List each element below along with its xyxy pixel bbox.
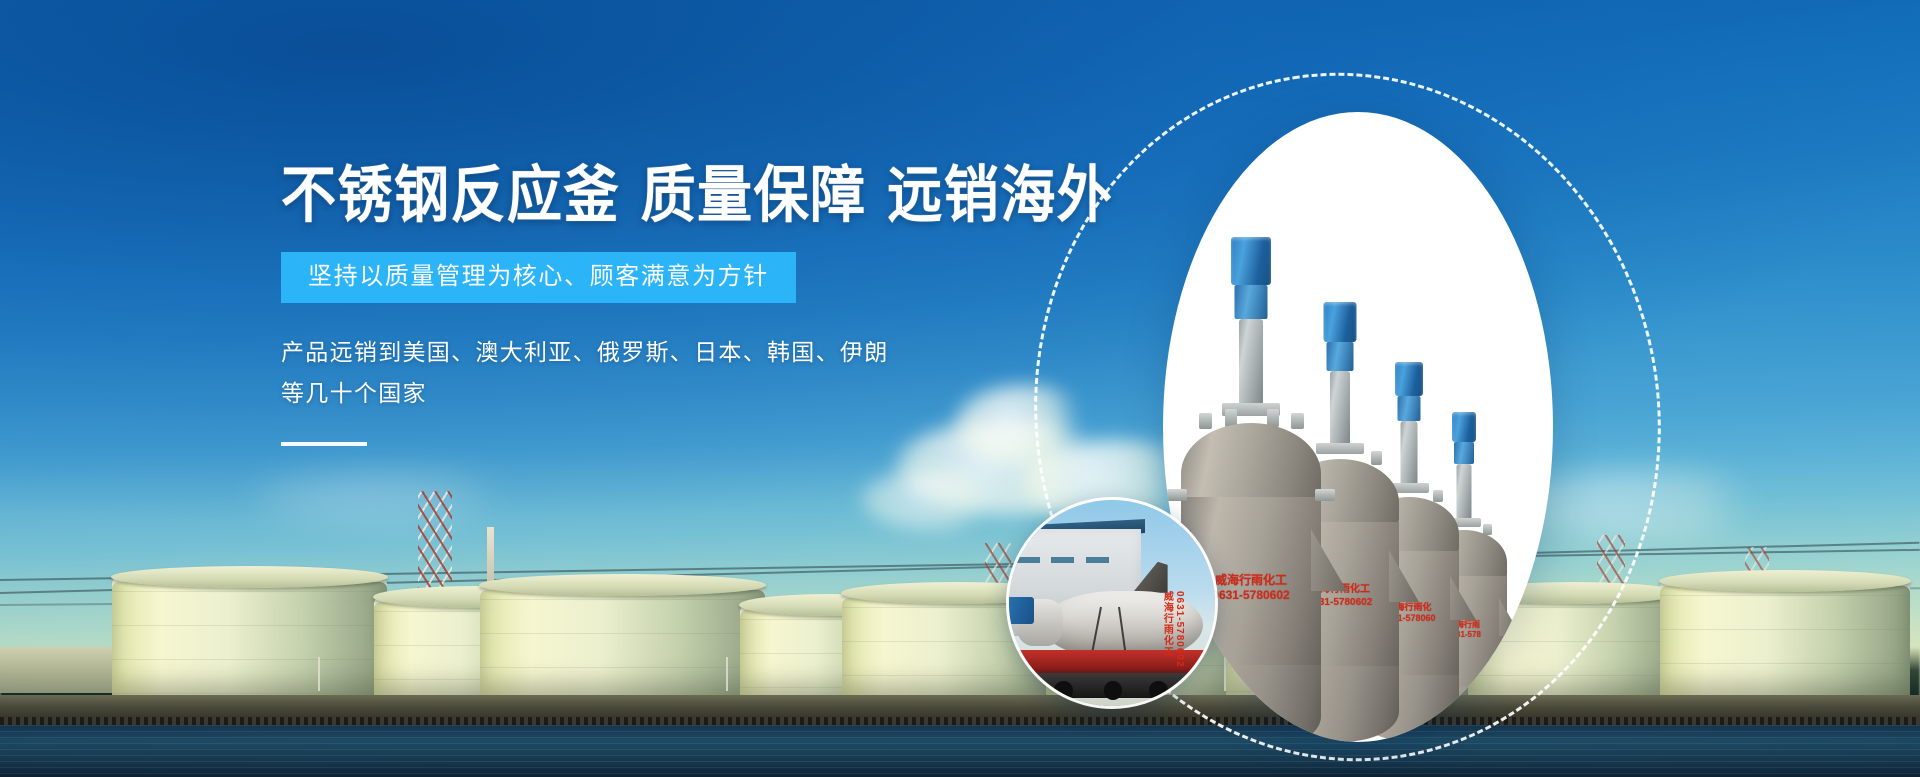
truck-wheel — [1054, 681, 1073, 700]
slogan-text: 坚持以质量管理为核心、顾客满意为方针 — [308, 263, 769, 290]
brand-phone: 0631-5780602 — [1212, 588, 1289, 603]
divider-rule — [281, 442, 367, 446]
agitator-motor-icon — [1324, 302, 1357, 342]
cloud — [860, 470, 1010, 530]
water-surface — [0, 725, 1920, 777]
nozzle — [1291, 413, 1304, 429]
hero-copy: 不锈钢反应釜 质量保障 远销海外 坚持以质量管理为核心、顾客满意为方针 产品远销… — [281, 162, 1001, 446]
agitator-shaft — [1401, 421, 1418, 485]
storage-tank — [112, 577, 387, 697]
description-line-2: 等几十个国家 — [281, 373, 1001, 413]
agitator-shaft — [1330, 371, 1350, 445]
agitator-shaft — [1239, 319, 1263, 405]
page-title: 不锈钢反应釜 质量保障 远销海外 — [281, 162, 1001, 227]
cloud — [250, 470, 550, 525]
nozzle — [1199, 413, 1212, 429]
window — [1017, 557, 1040, 563]
slogan-band: 坚持以质量管理为核心、顾客满意为方针 — [281, 252, 796, 303]
street-lamp — [318, 657, 320, 691]
window — [1051, 557, 1074, 563]
gearbox-icon — [1327, 342, 1354, 371]
side-nozzle — [1315, 489, 1335, 501]
product-photo-inset: 威海行雨化工 0631-5780602 — [1006, 497, 1218, 709]
description-text: 产品远销到美国、澳大利亚、俄罗斯、日本、韩国、伊朗 等几十个国家 — [281, 332, 1001, 413]
top-flange — [1316, 443, 1364, 454]
product-showcase-oval: 威海行雨 0631-578 威海行雨化 0631-578060 — [1163, 112, 1553, 742]
storage-tank — [480, 585, 765, 697]
description-line-1: 产品远销到美国、澳大利亚、俄罗斯、日本、韩国、伊朗 — [281, 332, 1001, 372]
agitator-motor-icon — [1395, 362, 1423, 396]
hero-banner: 不锈钢反应釜 质量保障 远销海外 坚持以质量管理为核心、顾客满意为方针 产品远销… — [0, 0, 1920, 777]
brand-name: 威海行雨化工 — [1212, 573, 1289, 588]
gearbox-icon — [1398, 396, 1421, 421]
inset-brand-name: 威海行雨化工 — [1159, 591, 1174, 657]
storage-tank — [1660, 581, 1910, 697]
street-lamp — [726, 657, 728, 691]
tank-farm-scene — [0, 545, 1920, 777]
nozzle — [1371, 451, 1382, 465]
truck-wheel — [1149, 681, 1168, 700]
vessel-dome — [1181, 423, 1321, 505]
motor-icon — [1006, 597, 1034, 624]
brand-marking: 威海行雨化工 0631-5780602 — [1212, 573, 1289, 603]
inset-brand-phone: 0631-5780602 — [1174, 591, 1185, 668]
window — [1086, 557, 1109, 563]
nozzle — [1433, 490, 1443, 502]
truck-wheel — [1104, 681, 1123, 700]
agitator-motor-icon — [1231, 237, 1271, 285]
gearbox-icon — [1235, 285, 1268, 319]
